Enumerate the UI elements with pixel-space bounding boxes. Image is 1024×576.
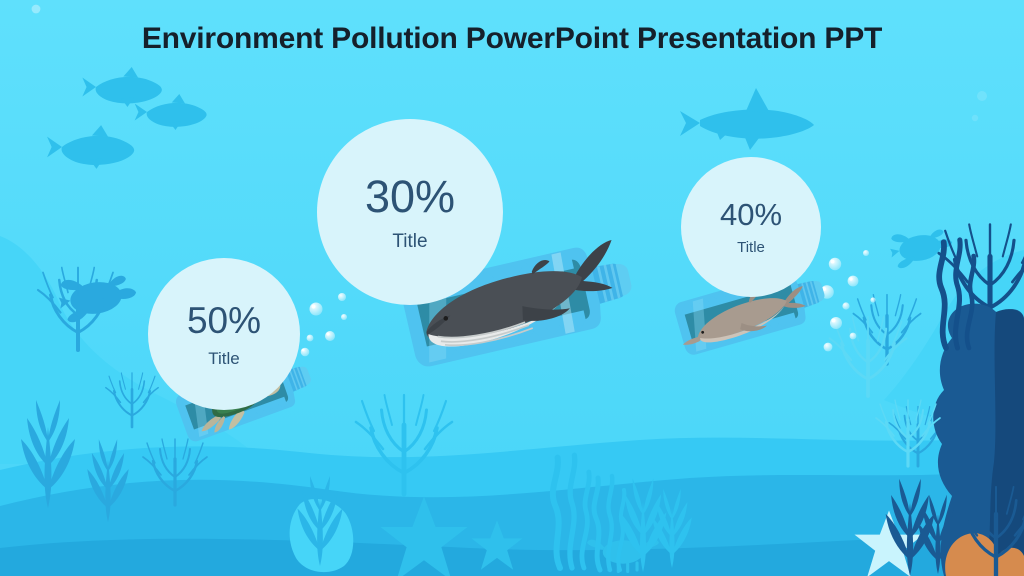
stat-label: Title [392, 232, 427, 251]
stat-callout-50[interactable]: 50% Title [148, 258, 300, 410]
plastic-bottle-illustrations [0, 0, 1024, 576]
stat-percent: 50% [187, 302, 261, 339]
stat-label: Title [737, 240, 765, 255]
stat-percent: 30% [365, 174, 455, 219]
stat-callout-40[interactable]: 40% Title [681, 157, 821, 297]
stat-callout-30[interactable]: 30% Title [317, 119, 503, 305]
stat-percent: 40% [720, 199, 782, 230]
stat-label: Title [208, 350, 240, 367]
slide-canvas: Environment Pollution PowerPoint Present… [0, 0, 1024, 576]
page-title: Environment Pollution PowerPoint Present… [0, 22, 1024, 56]
